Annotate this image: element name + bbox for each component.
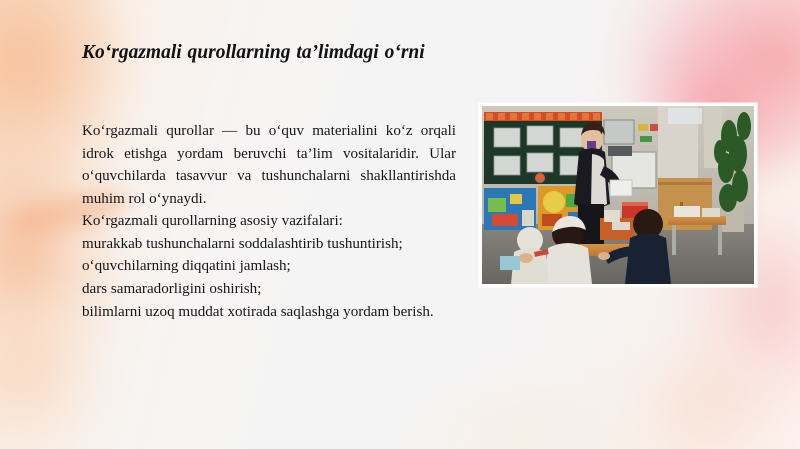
body-paragraph-4: o‘quvchilarning diqqatini jamlash; — [82, 255, 456, 278]
page-title: Ko‘rgazmali qurollarning ta’limdagi o‘rn… — [82, 40, 456, 66]
body-paragraph-6: bilimlarni uzoq muddat xotirada saqlashg… — [82, 301, 456, 324]
body-paragraph-2: Ko‘rgazmali qurollarning asosiy vazifala… — [82, 210, 456, 233]
body-paragraph-3: murakkab tushunchalarni soddalashtirib t… — [82, 233, 456, 256]
classroom-photo-illustration — [482, 106, 754, 284]
body-paragraph-5: dars samaradorligini oshirish; — [82, 278, 456, 301]
body-text-block: Ko‘rgazmali qurollar — bu o‘quv material… — [82, 120, 456, 323]
classroom-photo — [479, 103, 757, 287]
slide-canvas: Ko‘rgazmali qurollarning ta’limdagi o‘rn… — [0, 0, 800, 449]
slide-content: Ko‘rgazmali qurollarning ta’limdagi o‘rn… — [0, 0, 800, 449]
body-paragraph-1: Ko‘rgazmali qurollar — bu o‘quv material… — [82, 120, 456, 210]
classroom-photo-inner — [482, 106, 754, 284]
